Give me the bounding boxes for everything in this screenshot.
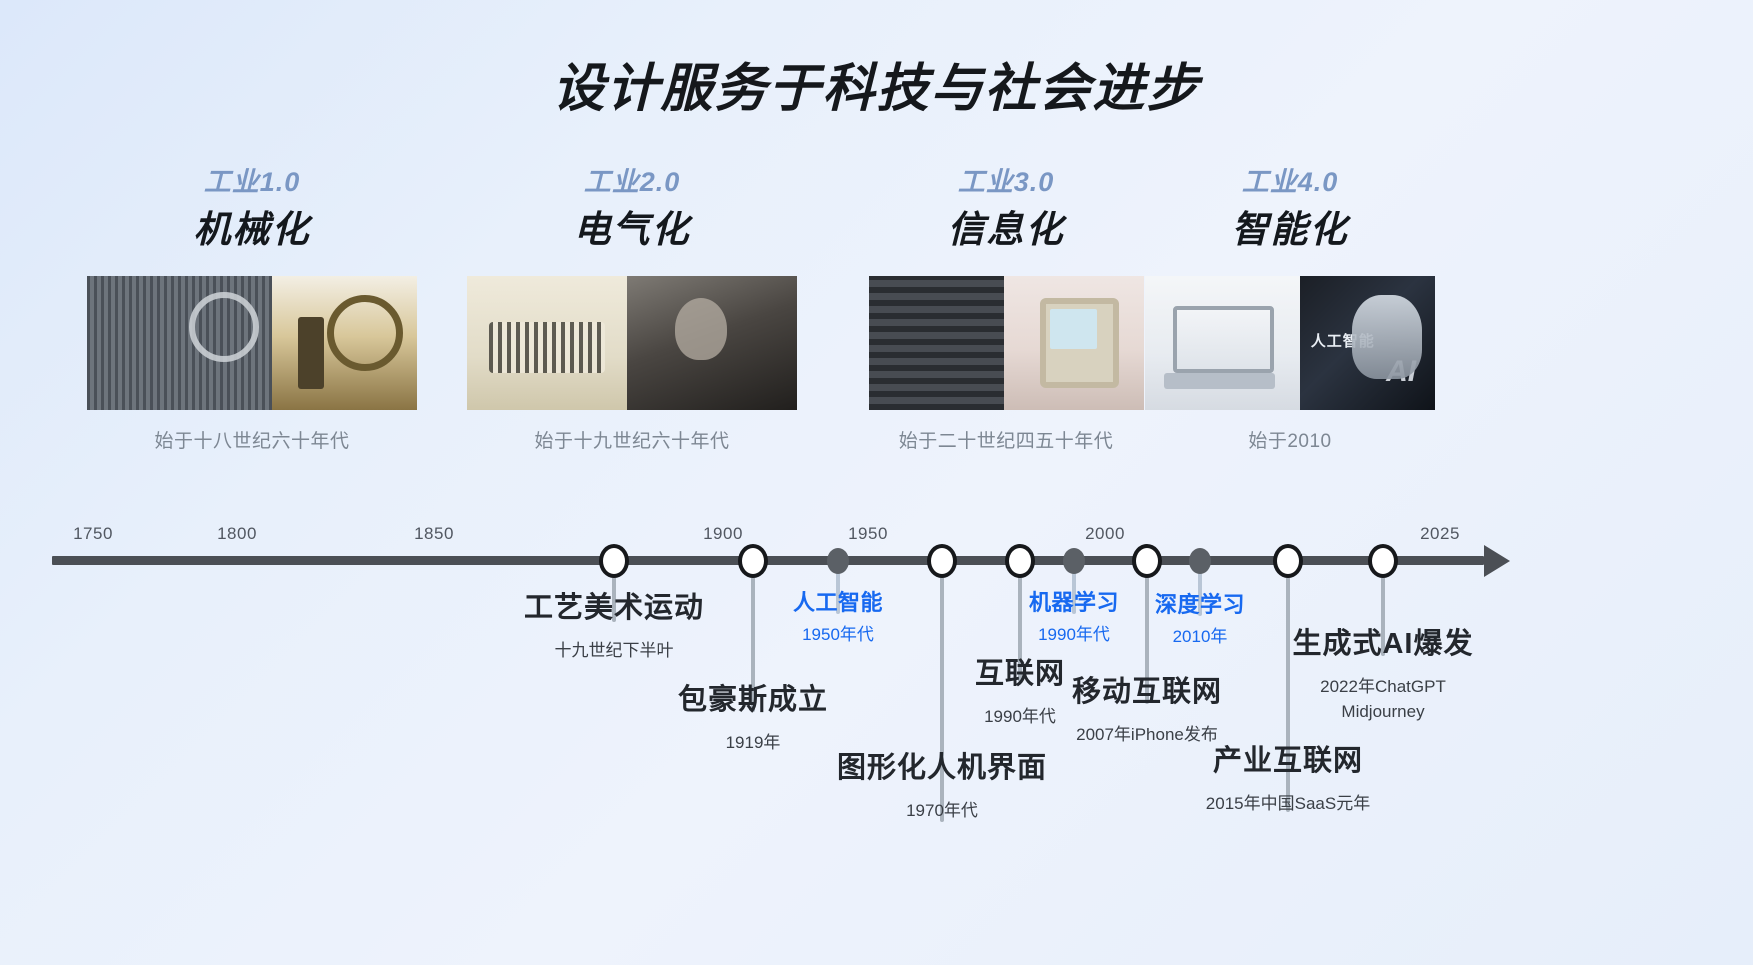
infographic-canvas: 设计服务于科技与社会进步 工业1.0机械化始于十八世纪六十年代工业2.0电气化始… xyxy=(0,0,1753,965)
annotation-arts-and-crafts-date: 十九世纪下半叶 xyxy=(524,639,704,664)
annotation-generative-ai[interactable]: 生成式AI爆发2022年ChatGPTMidjourney xyxy=(1292,628,1473,725)
marker-artificial-intelligence[interactable] xyxy=(827,548,849,574)
annotation-internet-title: 互联网 xyxy=(975,658,1065,691)
marker-graphical-user-interface[interactable] xyxy=(927,544,957,578)
axis-year-tick: 1800 xyxy=(217,524,257,544)
laptop-phone-tablet-mockup xyxy=(1145,276,1300,410)
marker-mobile-internet[interactable] xyxy=(1132,544,1162,578)
inventor-portrait-photo xyxy=(627,276,797,410)
era-image-pair xyxy=(72,276,432,410)
inventor-portrait-photo-art xyxy=(627,276,797,410)
annotation-graphical-user-interface[interactable]: 图形化人机界面1970年代 xyxy=(837,752,1047,824)
remington-typewriter-illustration xyxy=(467,276,627,410)
annotation-generative-ai-title: 生成式AI爆发 xyxy=(1292,628,1473,661)
annotation-artificial-intelligence-date: 1950年代 xyxy=(793,623,883,648)
spinning-loom-photo xyxy=(87,276,272,410)
annotation-artificial-intelligence[interactable]: 人工智能1950年代 xyxy=(793,590,883,648)
axis-year-tick: 1750 xyxy=(73,524,113,544)
marker-internet[interactable] xyxy=(1005,544,1035,578)
annotation-generative-ai-date: 2022年ChatGPTMidjourney xyxy=(1292,675,1473,724)
axis-year-tick: 1850 xyxy=(414,524,454,544)
spinning-loom-photo-art xyxy=(87,276,272,410)
annotation-mobile-internet-date: 2007年iPhone发布 xyxy=(1072,723,1222,748)
axis-year-tick: 2000 xyxy=(1085,524,1125,544)
axis-line xyxy=(52,556,1484,565)
marker-deep-learning[interactable] xyxy=(1189,548,1211,574)
steam-engine-photo xyxy=(272,276,417,410)
annotation-machine-learning-title: 机器学习 xyxy=(1029,590,1119,615)
annotation-industrial-internet-title: 产业互联网 xyxy=(1206,745,1370,778)
era-image-pair xyxy=(452,276,812,410)
axis-arrowhead-icon xyxy=(1484,545,1510,577)
axis-year-tick: 1950 xyxy=(848,524,888,544)
annotation-bauhaus[interactable]: 包豪斯成立1919年 xyxy=(678,684,828,756)
annotation-graphical-user-interface-date: 1970年代 xyxy=(837,799,1047,824)
axis-year-tick: 1900 xyxy=(703,524,743,544)
marker-bauhaus[interactable] xyxy=(738,544,768,578)
era-stage-label: 工业4.0 xyxy=(1110,168,1470,198)
era-stage-label: 工业1.0 xyxy=(72,168,432,198)
axis-year-tick: 2025 xyxy=(1420,524,1460,544)
marker-industrial-internet[interactable] xyxy=(1273,544,1303,578)
annotation-bauhaus-date: 1919年 xyxy=(678,731,828,756)
ai-overlay-initials: AI xyxy=(1386,355,1416,389)
ai-overlay-label: 人工智能 xyxy=(1311,330,1375,351)
era-name: 电气化 xyxy=(452,210,812,251)
annotation-mobile-internet[interactable]: 移动互联网2007年iPhone发布 xyxy=(1072,676,1222,748)
mainframe-computer-photo-art xyxy=(869,276,1004,410)
annotation-deep-learning[interactable]: 深度学习2010年 xyxy=(1155,592,1245,650)
annotation-internet-date: 1990年代 xyxy=(975,705,1065,730)
era-column-2: 工业2.0电气化始于十九世纪六十年代 xyxy=(452,168,812,453)
era-caption: 始于十九世纪六十年代 xyxy=(452,426,812,453)
marker-arts-and-crafts[interactable] xyxy=(599,544,629,578)
annotation-deep-learning-title: 深度学习 xyxy=(1155,592,1245,617)
annotation-deep-learning-date: 2010年 xyxy=(1155,625,1245,650)
annotation-mobile-internet-title: 移动互联网 xyxy=(1072,676,1222,709)
ai-robot-graphic: 人工智能AI xyxy=(1300,276,1435,410)
era-column-4: 工业4.0智能化人工智能AI始于2010 xyxy=(1110,168,1470,453)
era-image-pair: 人工智能AI xyxy=(1110,276,1470,410)
annotation-bauhaus-title: 包豪斯成立 xyxy=(678,684,828,717)
era-name: 机械化 xyxy=(72,210,432,251)
mainframe-computer-photo xyxy=(869,276,1004,410)
marker-generative-ai[interactable] xyxy=(1368,544,1398,578)
era-column-1: 工业1.0机械化始于十八世纪六十年代 xyxy=(72,168,432,453)
era-name: 智能化 xyxy=(1110,210,1470,251)
annotation-graphical-user-interface-title: 图形化人机界面 xyxy=(837,752,1047,785)
ai-robot-graphic-art: 人工智能AI xyxy=(1300,276,1435,410)
era-caption: 始于十八世纪六十年代 xyxy=(72,426,432,453)
annotation-industrial-internet-date: 2015年中国SaaS元年 xyxy=(1206,792,1370,817)
marker-machine-learning[interactable] xyxy=(1063,548,1085,574)
annotation-artificial-intelligence-title: 人工智能 xyxy=(793,590,883,615)
era-caption: 始于2010 xyxy=(1110,426,1470,453)
annotation-internet[interactable]: 互联网1990年代 xyxy=(975,658,1065,730)
remington-typewriter-illustration-art xyxy=(467,276,627,410)
era-stage-label: 工业2.0 xyxy=(452,168,812,198)
annotation-arts-and-crafts-title: 工艺美术运动 xyxy=(524,592,704,625)
laptop-phone-tablet-mockup-art xyxy=(1145,276,1300,410)
annotation-industrial-internet[interactable]: 产业互联网2015年中国SaaS元年 xyxy=(1206,745,1370,817)
annotation-arts-and-crafts[interactable]: 工艺美术运动十九世纪下半叶 xyxy=(524,592,704,664)
annotation-machine-learning[interactable]: 机器学习1990年代 xyxy=(1029,590,1119,648)
steam-engine-photo-art xyxy=(272,276,417,410)
annotation-machine-learning-date: 1990年代 xyxy=(1029,623,1119,648)
page-title: 设计服务于科技与社会进步 xyxy=(0,46,1753,121)
